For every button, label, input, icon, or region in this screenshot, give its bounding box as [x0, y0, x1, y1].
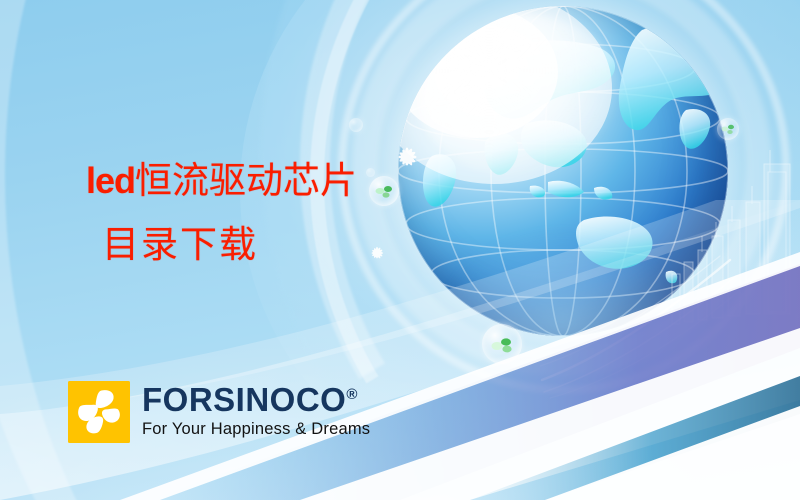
brand-tagline: For Your Happiness & Dreams	[142, 421, 370, 438]
headline-latin-text: led	[86, 160, 135, 201]
registered-mark: ®	[346, 386, 357, 403]
bubble-pinwheel-2	[482, 324, 522, 364]
brand-wordmark: FORSINOCO® For Your Happiness & Dreams	[142, 381, 370, 438]
brand-name-text: FORSINOCO	[142, 381, 346, 418]
globe-specular-highlight	[418, 13, 623, 178]
headline-cjk-text: 恒流驱动芯片	[135, 161, 357, 202]
brand-name: FORSINOCO®	[142, 383, 370, 416]
bubble-small	[349, 118, 363, 132]
brand-logo: FORSINOCO® For Your Happiness & Dreams	[68, 381, 370, 443]
pinwheel-icon	[717, 118, 739, 140]
pinwheel-petals-icon	[68, 381, 130, 443]
bubble-pinwheel-3	[717, 118, 739, 140]
headline-line-1: led恒流驱动芯片	[86, 160, 506, 204]
forsinoco-mark-icon	[68, 381, 130, 443]
pinwheel-icon	[482, 324, 522, 364]
headline-line-2: 目录下载	[86, 224, 506, 268]
promo-banner: led恒流驱动芯片 目录下载 FORSINOCO® For	[0, 0, 800, 500]
headline-block: led恒流驱动芯片 目录下载	[86, 160, 506, 267]
logo-mark-background	[68, 381, 130, 443]
